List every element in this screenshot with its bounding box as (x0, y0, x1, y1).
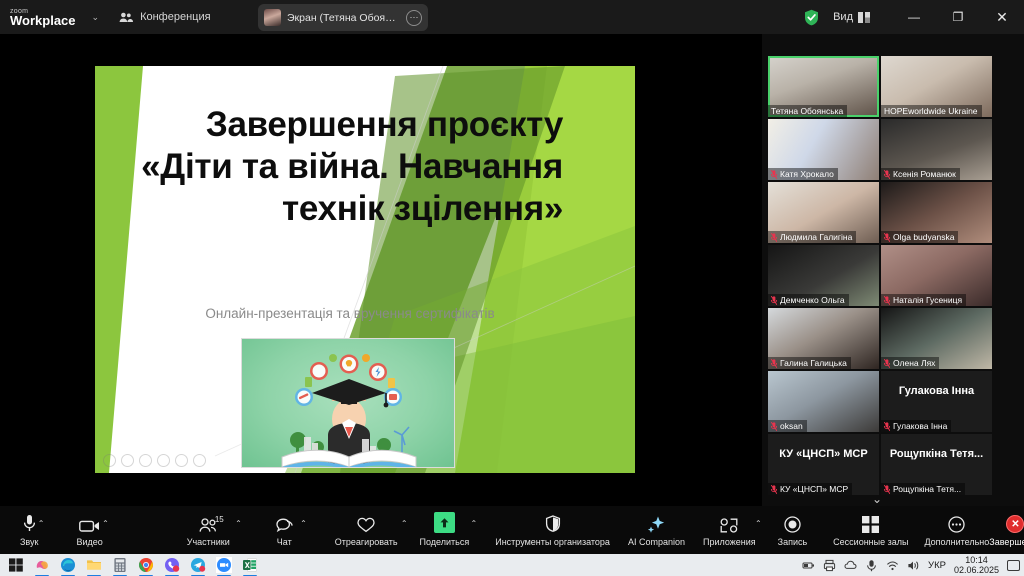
video-button[interactable]: Видео ⌃ (76, 506, 102, 554)
windows-taskbar: УКР 10:14 02.06.2025 (0, 554, 1024, 576)
muted-microphone-icon (771, 422, 777, 431)
apps-caret-icon[interactable]: ⌃ (755, 519, 762, 528)
participant-name: Демченко Ольга (780, 295, 845, 305)
tray-cloud-icon[interactable] (844, 559, 857, 572)
video-caret-icon[interactable]: ⌃ (102, 519, 109, 528)
muted-microphone-icon (884, 359, 890, 368)
participants-panel: Тетяна ОбоянськаHOPEworldwide UkraineКат… (762, 34, 1024, 506)
edge-icon[interactable] (60, 557, 76, 573)
annot-forward-icon[interactable] (121, 454, 134, 467)
host-shield-icon (545, 513, 561, 533)
host-tools-label: Инструменты организатора (495, 537, 610, 547)
participant-name-badge: Наталія Гусениця (881, 294, 966, 306)
participant-name-badge: Олена Лях (881, 357, 939, 369)
participant-row: Людмила ГалигінаOlga budyanska (768, 182, 992, 243)
view-label: Вид (833, 11, 853, 23)
participant-tile[interactable]: oksan (768, 371, 879, 432)
tray-battery-icon[interactable] (802, 559, 815, 572)
camera-icon (79, 513, 100, 533)
participants-count: 15 (215, 515, 224, 524)
chat-button[interactable]: Чат ⌃ (276, 506, 293, 554)
annot-copy-icon[interactable] (157, 454, 170, 467)
annot-pen-icon[interactable] (139, 454, 152, 467)
participant-name: Галина Галицька (780, 358, 847, 368)
notifications-icon[interactable] (1007, 560, 1020, 571)
participant-tile[interactable]: HOPEworldwide Ukraine (881, 56, 992, 117)
tray-printer-icon[interactable] (823, 559, 836, 572)
slide-subtitle: Онлайн-презентація та вручення сертифіка… (135, 306, 565, 321)
telegram-icon[interactable] (190, 557, 206, 573)
breakout-grid-icon (862, 513, 879, 533)
participant-tile[interactable]: КУ «ЦНСП» МСРКУ «ЦНСП» МСР (768, 434, 879, 495)
participant-name-badge: oksan (768, 420, 807, 432)
annot-zoom-icon[interactable] (175, 454, 188, 467)
clock-time: 10:14 (954, 555, 999, 565)
chat-caret-icon[interactable]: ⌃ (300, 519, 307, 528)
ai-companion-button[interactable]: AI Companion (628, 506, 685, 554)
maximize-button[interactable]: ❐ (936, 0, 980, 34)
sparkle-icon (647, 513, 666, 533)
video-label: Видео (76, 537, 102, 547)
language-indicator[interactable]: УКР (928, 560, 946, 571)
participant-name: Ксенія Романюк (893, 169, 956, 179)
zoom-meeting-window: zoom Workplace ⌄ Конференция Экран (Тетя… (0, 0, 1024, 576)
record-button[interactable]: Запись (778, 506, 808, 554)
more-dots-icon (948, 513, 965, 533)
react-label: Отреагировать (335, 537, 398, 547)
muted-microphone-icon (771, 296, 777, 305)
muted-microphone-icon (884, 170, 890, 179)
participant-tile[interactable]: Olga budyanska (881, 182, 992, 243)
participant-tile[interactable]: Гулакова ІннаГулакова Інна (881, 371, 992, 432)
participant-name-badge: Гулакова Інна (881, 420, 951, 432)
participant-name: Наталія Гусениця (893, 295, 962, 305)
graduate-illustration-svg (242, 339, 455, 468)
participant-name-badge: Демченко Ольга (768, 294, 849, 306)
graduate-illustration (241, 338, 455, 468)
audio-button[interactable]: Звук ⌃ (20, 506, 38, 554)
share-tab-label: Экран (Тетяна Обоянська) (287, 12, 400, 24)
close-button[interactable]: ✕ (980, 0, 1024, 34)
participant-name: Олена Лях (893, 358, 935, 368)
record-label: Запись (778, 537, 808, 547)
annot-more-icon[interactable] (193, 454, 206, 467)
people-icon (119, 12, 133, 23)
participant-tiles: Тетяна ОбоянськаHOPEworldwide UkraineКат… (768, 56, 992, 497)
participant-name: Тетяна Обоянська (771, 106, 843, 116)
participant-tile[interactable]: Людмила Галигіна (768, 182, 879, 243)
participant-name-badge: HOPEworldwide Ukraine (881, 105, 982, 117)
participant-tile[interactable]: Наталія Гусениця (881, 245, 992, 306)
share-screen-button[interactable]: Поделиться ⌃ (420, 506, 470, 554)
presentation-slide: Завершення проєкту «Діти та війна. Навча… (95, 66, 635, 473)
apps-button[interactable]: Приложения ⌃ (703, 506, 756, 554)
participant-row: oksanГулакова ІннаГулакова Інна (768, 371, 992, 432)
participant-name: Olga budyanska (893, 232, 954, 242)
meeting-toolbar: Звук ⌃ Видео ⌃ 15 (0, 506, 1024, 554)
zoom-workplace-logo: zoom Workplace (10, 8, 76, 27)
participant-name-badge: Людмила Галигіна (768, 231, 856, 243)
react-caret-icon[interactable]: ⌃ (401, 519, 408, 528)
heart-icon (357, 513, 375, 533)
annot-back-icon[interactable] (103, 454, 116, 467)
participants-button[interactable]: 15 Участники ⌃ (187, 506, 230, 554)
participant-row: Тетяна ОбоянськаHOPEworldwide Ukraine (768, 56, 992, 117)
chevron-down-icon[interactable]: ⌄ (92, 12, 100, 23)
muted-microphone-icon (884, 422, 890, 431)
muted-microphone-icon (771, 233, 777, 242)
zoom-app-icon[interactable] (216, 557, 232, 573)
view-button[interactable]: Вид (833, 11, 870, 23)
end-call-icon: ✕ (1006, 513, 1024, 533)
tray-wifi-icon[interactable] (886, 559, 899, 572)
layout-grid-icon (858, 12, 870, 23)
participant-name-badge: Olga budyanska (881, 231, 958, 243)
participant-name-badge: Галина Галицька (768, 357, 851, 369)
breakout-label: Сессионные залы (833, 537, 908, 547)
windows-start-icon[interactable] (8, 557, 24, 573)
participant-name: HOPEworldwide Ukraine (884, 106, 978, 116)
audio-label: Звук (20, 537, 38, 547)
share-thumbnail-avatar (264, 9, 281, 26)
chat-label: Чат (277, 537, 292, 547)
react-button[interactable]: Отреагировать ⌃ (335, 506, 398, 554)
participant-name-badge: Ксенія Романюк (881, 168, 960, 180)
muted-microphone-icon (884, 296, 890, 305)
participant-name: Гулакова Інна (893, 421, 947, 431)
muted-microphone-icon (771, 359, 777, 368)
breakout-rooms-button[interactable]: Сессионные залы (833, 506, 908, 554)
participant-name: Людмила Галигіна (780, 232, 852, 242)
tray-microphone-icon[interactable] (865, 559, 878, 572)
participants-label: Участники (187, 537, 230, 547)
participant-tile[interactable]: Демченко Ольга (768, 245, 879, 306)
copilot-icon[interactable] (34, 557, 50, 573)
participant-name-badge: Катя Хрокало (768, 168, 838, 180)
system-tray: УКР 10:14 02.06.2025 (802, 555, 1020, 576)
audio-caret-icon[interactable]: ⌃ (38, 519, 45, 528)
shared-screen-area[interactable]: Завершення проєкту «Діти та війна. Навча… (0, 34, 762, 506)
ai-companion-label: AI Companion (628, 537, 685, 547)
participant-placeholder-name: Гулакова Інна (881, 385, 992, 397)
microphone-icon (23, 513, 36, 533)
participant-name-badge: Тетяна Обоянська (768, 105, 847, 117)
annotation-toolbar[interactable] (103, 454, 206, 467)
minimize-button[interactable]: — (892, 0, 936, 34)
participant-tile[interactable]: Олена Лях (881, 308, 992, 369)
share-icon (434, 513, 455, 533)
muted-microphone-icon (771, 170, 777, 179)
file-explorer-icon[interactable] (86, 557, 102, 573)
participant-tile[interactable]: Тетяна Обоянська (768, 56, 879, 117)
apps-icon (720, 513, 738, 533)
more-button[interactable]: Дополнительно (924, 506, 989, 554)
participant-tile[interactable]: Рощупкіна Тетя...Рощупкіна Тетя... (881, 434, 992, 495)
participant-row: КУ «ЦНСП» МСРКУ «ЦНСП» МСРРощупкіна Тетя… (768, 434, 992, 495)
host-tools-button[interactable]: Инструменты организатора (495, 506, 610, 554)
participant-tile[interactable]: Ксенія Романюк (881, 119, 992, 180)
chat-icon (276, 513, 293, 533)
end-meeting-button[interactable]: ✕ Завершение (989, 506, 1024, 554)
clock-date: 02.06.2025 (954, 565, 999, 575)
participants-caret-icon[interactable]: ⌃ (235, 519, 242, 528)
more-label: Дополнительно (924, 537, 989, 547)
share-label: Поделиться (420, 537, 470, 547)
window-controls: Вид — ❐ ✕ (804, 0, 1024, 34)
participant-row: Катя ХрокалоКсенія Романюк (768, 119, 992, 180)
participant-row: Галина ГалицькаОлена Лях (768, 308, 992, 369)
tray-volume-icon[interactable] (907, 559, 920, 572)
conference-label: Конференция (140, 11, 210, 23)
participant-tile[interactable]: Катя Хрокало (768, 119, 879, 180)
title-bar: zoom Workplace ⌄ Конференция Экран (Тетя… (0, 0, 1024, 34)
taskbar-icons (8, 557, 258, 573)
chrome-icon[interactable] (138, 557, 154, 573)
participant-tile[interactable]: Галина Галицька (768, 308, 879, 369)
participant-row: Демченко ОльгаНаталія Гусениця (768, 245, 992, 306)
end-call-glyph: ✕ (1006, 515, 1024, 533)
viber-icon[interactable] (164, 557, 180, 573)
slide-title: Завершення проєкту «Діти та війна. Навча… (133, 104, 563, 230)
participant-name: Катя Хрокало (780, 169, 834, 179)
participant-placeholder-name: Рощупкіна Тетя... (881, 448, 992, 460)
clock[interactable]: 10:14 02.06.2025 (954, 555, 999, 576)
calculator-icon[interactable] (112, 557, 128, 573)
logo-bottom-text: Workplace (10, 14, 76, 27)
participant-name: oksan (780, 421, 803, 431)
share-caret-icon[interactable]: ⌃ (471, 519, 478, 528)
participant-placeholder-name: КУ «ЦНСП» МСР (768, 448, 879, 460)
conference-tab[interactable]: Конференция (119, 11, 210, 23)
muted-microphone-icon (884, 233, 890, 242)
apps-label: Приложения (703, 537, 756, 547)
excel-icon[interactable] (242, 557, 258, 573)
security-shield-icon[interactable] (804, 9, 819, 26)
panel-chevron-down-icon[interactable]: ⌄ (762, 492, 992, 506)
end-label: Завершение (989, 537, 1024, 547)
more-options-icon[interactable]: ⋯ (406, 10, 422, 26)
record-icon (784, 513, 801, 533)
screen-share-tab[interactable]: Экран (Тетяна Обоянська) ⋯ (258, 4, 428, 31)
